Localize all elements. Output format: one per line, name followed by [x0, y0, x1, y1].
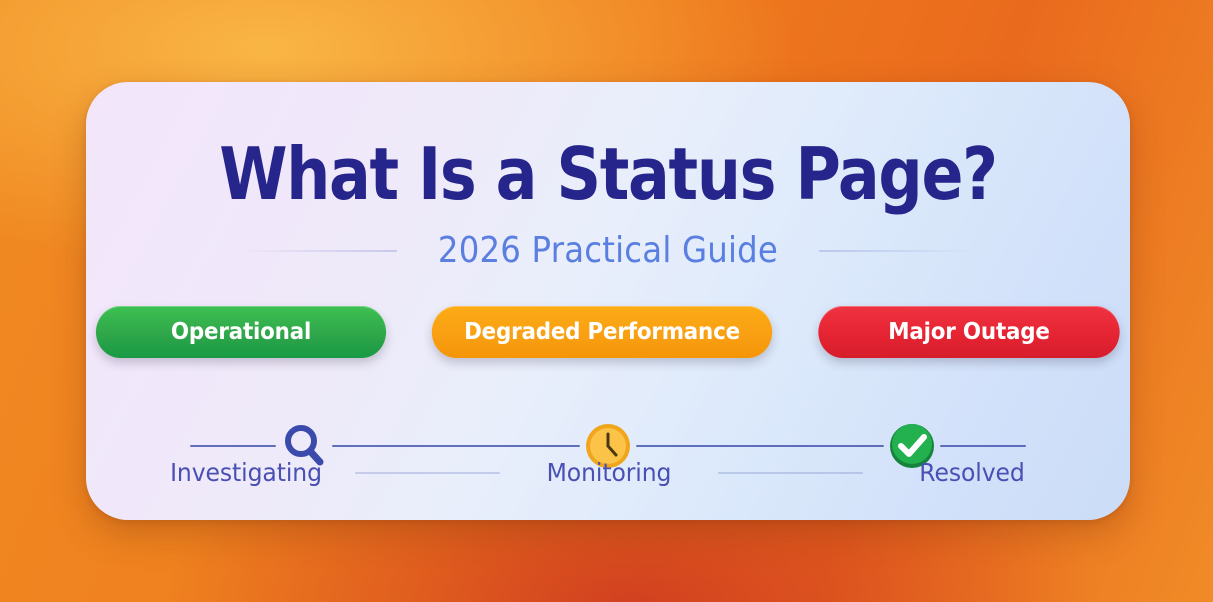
poster-background: What Is a Status Page? 2026 Practical Gu… [0, 0, 1213, 602]
timeline-line-start [190, 445, 276, 447]
page-subtitle: 2026 Practical Guide [438, 230, 778, 271]
status-pill-group: Operational Degraded Performance Major O… [86, 306, 1130, 358]
timeline-labels: Investigating Monitoring Resolved [190, 458, 1026, 487]
status-badge-degraded-performance[interactable]: Degraded Performance [432, 306, 772, 358]
timeline-line-2 [636, 445, 884, 447]
status-page-card: What Is a Status Page? 2026 Practical Gu… [86, 82, 1130, 520]
subtitle-rule-right [819, 250, 969, 252]
status-badge-operational[interactable]: Operational [96, 306, 386, 358]
timeline-line-1 [332, 445, 580, 447]
subtitle-rule-left [247, 250, 397, 252]
incident-timeline: Investigating Monitoring Resolved [86, 396, 1130, 506]
timeline-label-connector-2 [718, 472, 863, 474]
timeline-line-end [940, 445, 1026, 447]
timeline-label-resolved: Resolved [883, 458, 1062, 487]
timeline-label-monitoring: Monitoring [520, 458, 699, 487]
timeline-label-investigating: Investigating [157, 458, 336, 487]
timeline-label-connector-1 [355, 472, 500, 474]
subtitle-row: 2026 Practical Guide [86, 230, 1130, 271]
status-badge-major-outage[interactable]: Major Outage [818, 306, 1119, 358]
page-title: What Is a Status Page? [159, 138, 1057, 210]
